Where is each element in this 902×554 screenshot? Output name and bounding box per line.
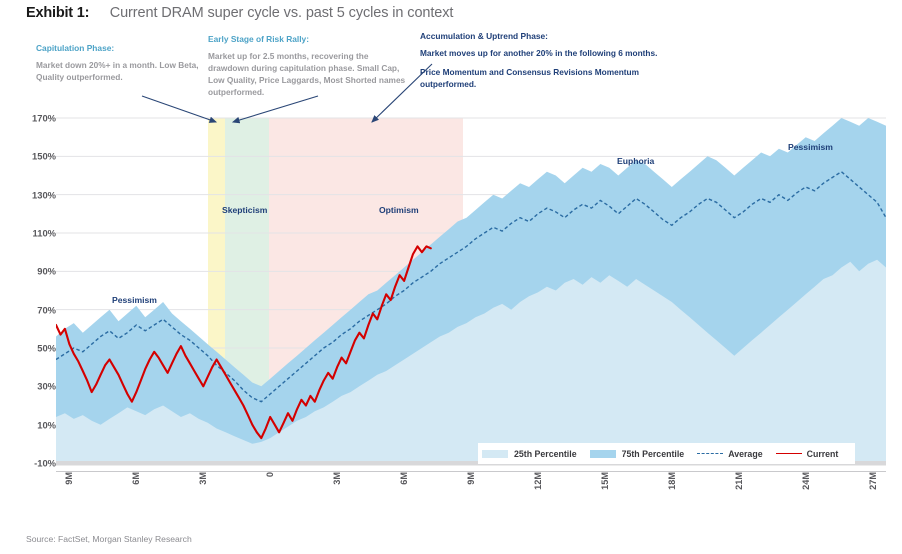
legend-marker [590,450,616,458]
y-axis-tick-label: 70% [10,304,56,315]
x-axis-tick-label: 9M [466,472,476,485]
legend-marker [776,453,802,454]
data-series-group [56,118,886,463]
legend-label: Average [728,449,762,459]
chart-container: -10%10%30%50%70%90%110%130%150%170% 9M6M… [0,0,902,554]
legend-item-25th-percentile[interactable]: 25th Percentile [482,449,577,459]
x-axis-tick-label: 6M [131,472,141,485]
chart-legend: 25th Percentile75th PercentileAverageCur… [478,443,855,464]
x-axis-tick-label: 27M [868,472,878,490]
y-axis-tick-label: 90% [10,266,56,277]
phase-label-pessimism: Pessimism [788,142,833,152]
legend-item-average[interactable]: Average [697,449,762,459]
legend-label: 25th Percentile [514,449,577,459]
legend-item-current[interactable]: Current [776,449,839,459]
y-axis-tick-label: 50% [10,343,56,354]
x-axis-tick-label: 21M [734,472,744,490]
legend-label: Current [807,449,839,459]
y-axis: -10%10%30%50%70%90%110%130%150%170% [8,0,56,554]
y-axis-tick-label: -10% [10,458,56,469]
phase-label-pessimism: Pessimism [112,295,157,305]
legend-marker [482,450,508,458]
arrow-to-accumulation [372,64,432,122]
legend-marker [697,453,723,454]
x-axis-tick-label: 3M [198,472,208,485]
x-axis-tick-label: 0 [265,472,275,477]
x-axis-tick-label: 12M [533,472,543,490]
y-axis-tick-label: 170% [10,113,56,124]
phase-label-euphoria: Euphoria [617,156,654,166]
y-axis-tick-label: 150% [10,151,56,162]
y-axis-tick-label: 10% [10,419,56,430]
x-axis-tick-label: 9M [64,472,74,485]
legend-item-75th-percentile[interactable]: 75th Percentile [590,449,685,459]
x-axis-tick-label: 6M [399,472,409,485]
legend-label: 75th Percentile [622,449,685,459]
y-axis-tick-label: 130% [10,189,56,200]
x-axis-tick-label: 18M [667,472,677,490]
phase-label-optimism: Optimism [379,205,419,215]
x-axis-tick-label: 15M [600,472,610,490]
y-axis-tick-label: 30% [10,381,56,392]
x-axis: 9M6M3M03M6M9M12M15M18M21M24M27M [0,472,902,522]
x-axis-tick-label: 3M [332,472,342,485]
source-note: Source: FactSet, Morgan Stanley Research [26,534,192,544]
annotation-arrow-group [142,64,432,122]
y-axis-tick-label: 110% [10,228,56,239]
x-axis-tick-label: 24M [801,472,811,490]
phase-label-skepticism: Skepticism [222,205,267,215]
